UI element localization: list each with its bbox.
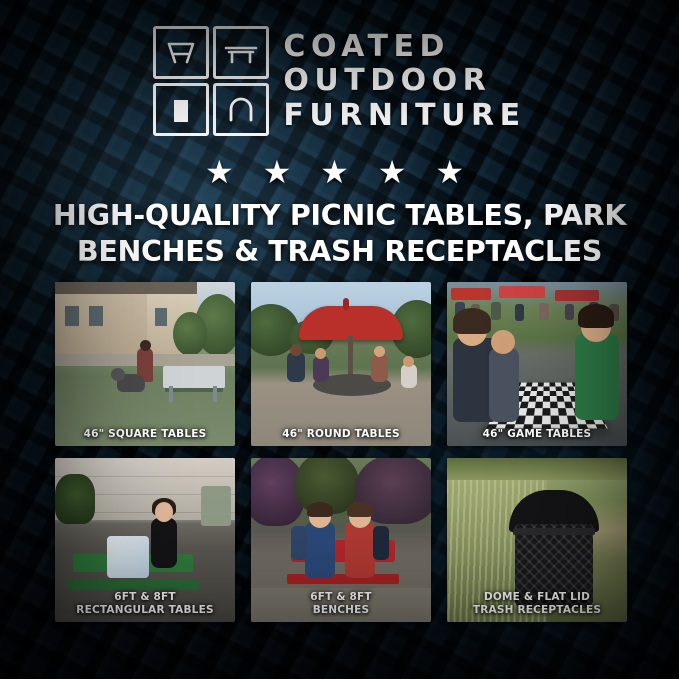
headline-line-1: HIGH-QUALITY PICNIC TABLES, PARK bbox=[32, 198, 647, 234]
product-photo-round-tables bbox=[251, 282, 431, 446]
product-photo-game-tables bbox=[447, 282, 627, 446]
brand-word-1: COATED bbox=[283, 30, 525, 64]
product-card-square-tables[interactable]: 46" SQUARE TABLES bbox=[55, 282, 235, 446]
product-card-trash-receptacles[interactable]: DOME & FLAT LID TRASH RECEPTACLES bbox=[447, 458, 627, 622]
trash-can-icon bbox=[153, 83, 209, 136]
arch-bench-icon bbox=[213, 83, 269, 136]
product-card-rectangular-tables[interactable]: 6FT & 8FT RECTANGULAR TABLES bbox=[55, 458, 235, 622]
picnic-table-icon bbox=[153, 26, 209, 79]
headline: HIGH-QUALITY PICNIC TABLES, PARK BENCHES… bbox=[0, 198, 679, 271]
product-label-round-tables: 46" ROUND TABLES bbox=[251, 428, 431, 440]
bench-icon bbox=[213, 26, 269, 79]
product-label-benches: 6FT & 8FT BENCHES bbox=[251, 591, 431, 616]
brand-logo: COATED OUTDOOR FURNITURE bbox=[0, 22, 679, 140]
product-photo-square-tables bbox=[55, 282, 235, 446]
brand-word-2: OUTDOOR bbox=[283, 64, 525, 98]
product-poster: COATED OUTDOOR FURNITURE ★ ★ ★ ★ ★ HIGH-… bbox=[0, 0, 679, 679]
product-label-square-tables: 46" SQUARE TABLES bbox=[55, 428, 235, 440]
logo-mark bbox=[153, 26, 269, 136]
product-grid: 46" SQUARE TABLES bbox=[55, 282, 627, 622]
product-label-game-tables: 46" GAME TABLES bbox=[447, 428, 627, 440]
brand-wordmark: COATED OUTDOOR FURNITURE bbox=[283, 30, 525, 133]
star-rating: ★ ★ ★ ★ ★ bbox=[0, 156, 679, 188]
product-card-round-tables[interactable]: 46" ROUND TABLES bbox=[251, 282, 431, 446]
product-label-rectangular-tables: 6FT & 8FT RECTANGULAR TABLES bbox=[55, 591, 235, 616]
brand-word-3: FURNITURE bbox=[283, 99, 525, 133]
product-label-trash-receptacles: DOME & FLAT LID TRASH RECEPTACLES bbox=[447, 591, 627, 616]
poster-content: COATED OUTDOOR FURNITURE ★ ★ ★ ★ ★ HIGH-… bbox=[0, 0, 679, 679]
product-card-game-tables[interactable]: 46" GAME TABLES bbox=[447, 282, 627, 446]
product-card-benches[interactable]: 6FT & 8FT BENCHES bbox=[251, 458, 431, 622]
headline-line-2: BENCHES & TRASH RECEPTACLES bbox=[32, 234, 647, 270]
